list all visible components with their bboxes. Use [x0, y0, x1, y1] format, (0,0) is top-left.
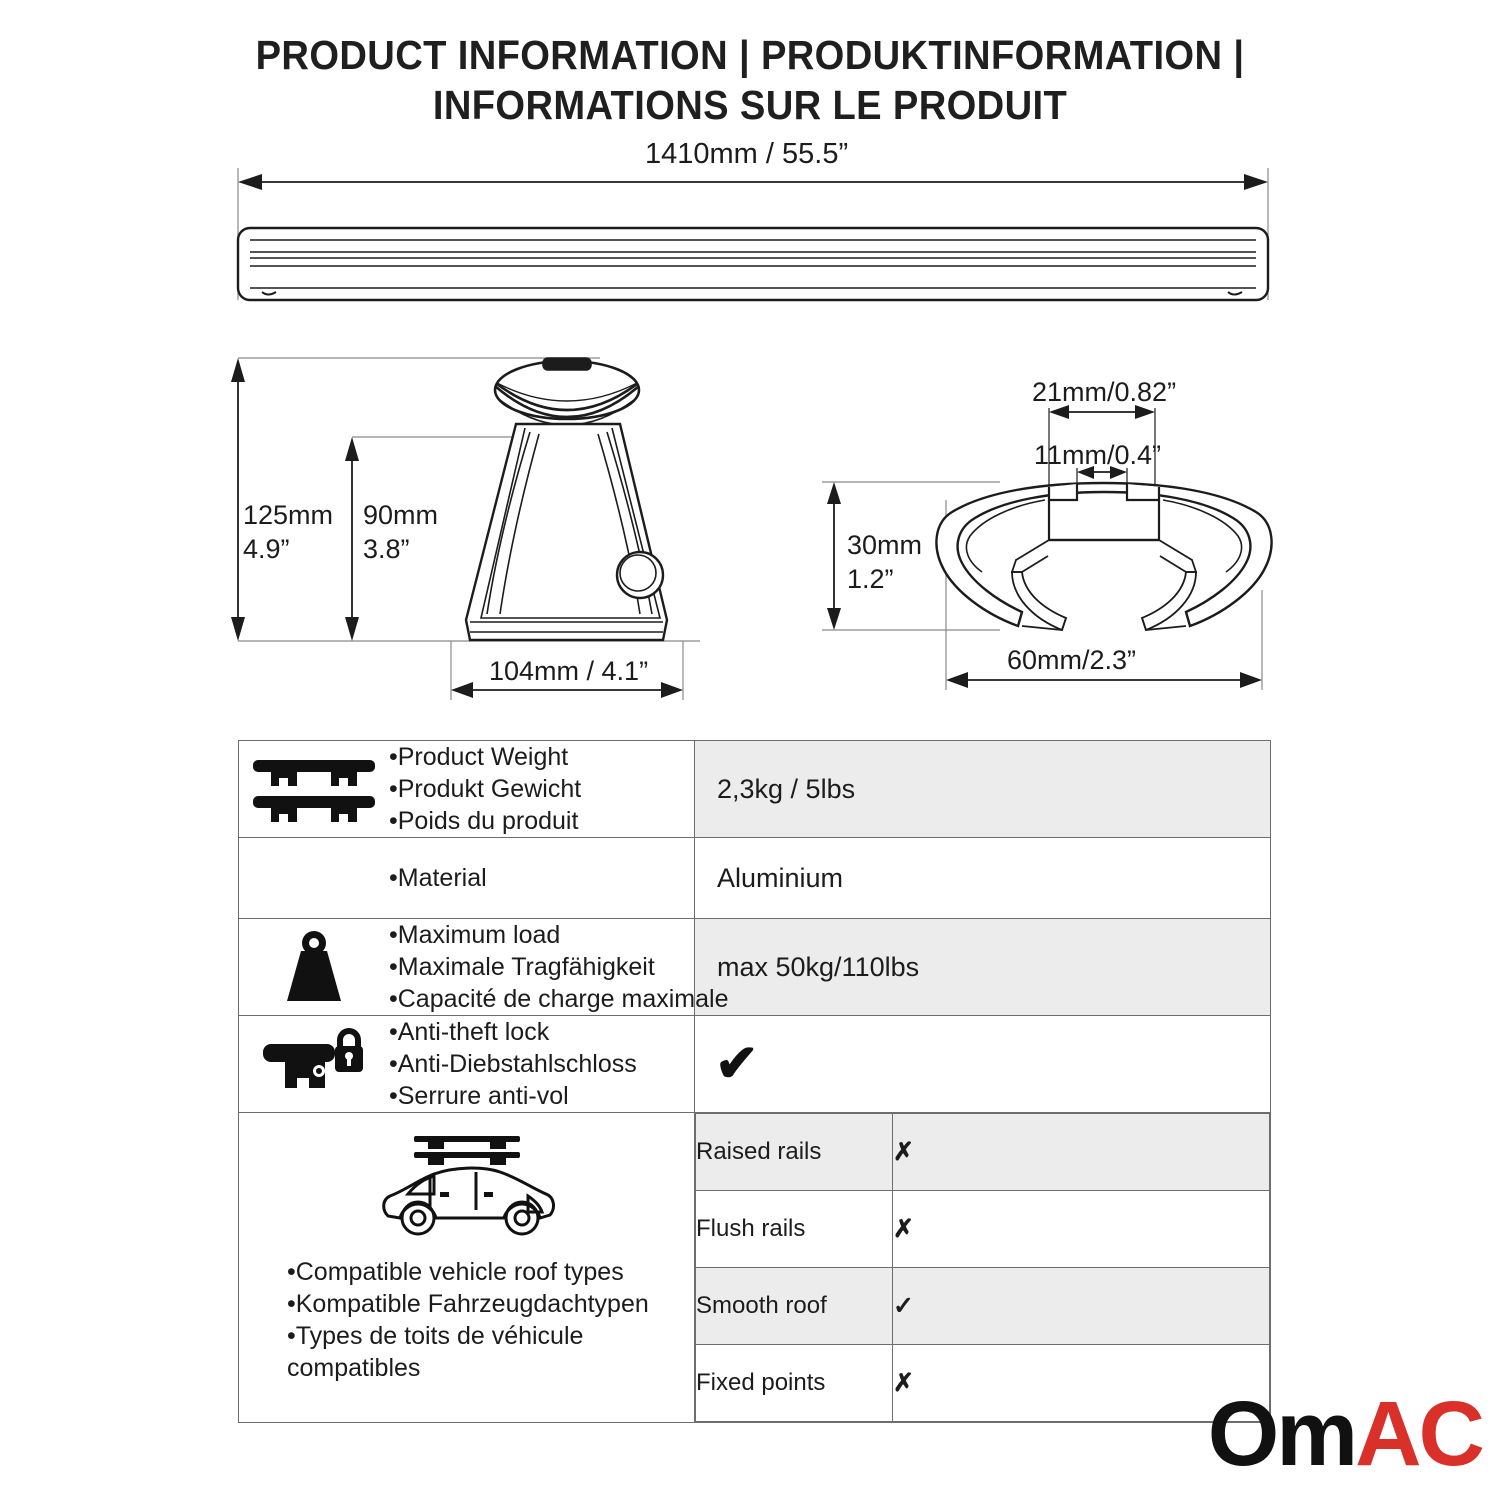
- logo-text-red: AC: [1355, 1383, 1482, 1485]
- dim-arrow-90mm: [345, 437, 359, 641]
- weight-label-en: •Product Weight: [389, 741, 581, 773]
- roof-types-label-fr: •Types de toits de véhicule: [287, 1320, 686, 1352]
- roof-type-name-raised: Raised rails: [696, 1114, 893, 1191]
- roof-type-row-smooth: Smooth roof ✓: [696, 1268, 1270, 1345]
- roof-type-row-raised: Raised rails ✗: [696, 1114, 1270, 1191]
- dim-profile-height-in: 1.2”: [847, 564, 894, 594]
- roof-type-row-fixed: Fixed points ✗: [696, 1345, 1270, 1422]
- weight-label-fr: •Poids du produit: [389, 805, 581, 837]
- omac-logo: OmAC: [1208, 1388, 1482, 1480]
- roof-types-subtable: Raised rails ✗ Flush rails ✗ Smooth roof…: [695, 1113, 1270, 1422]
- roof-type-mark-flush: ✗: [893, 1191, 1270, 1268]
- crossbars-icon: [239, 752, 389, 826]
- dim-profile-slot-inner: 11mm/0.4”: [1034, 440, 1161, 471]
- table-row-material: •Material Aluminium: [239, 838, 1271, 919]
- table-row-anti-theft: •Anti-theft lock •Anti-Diebstahlschloss …: [239, 1016, 1271, 1113]
- logo-text-black: Om: [1208, 1383, 1355, 1485]
- anti-theft-labels: •Anti-theft lock •Anti-Diebstahlschloss …: [389, 1016, 637, 1112]
- max-load-value-cell: max 50kg/110lbs: [695, 919, 1271, 1016]
- dim-tower-height-inner: 90mm 3.8”: [363, 498, 438, 566]
- roof-type-mark-raised: ✗: [893, 1114, 1270, 1191]
- roof-types-label-fr-cont: compatibles: [287, 1352, 686, 1384]
- table-row-weight: •Product Weight •Produkt Gewicht •Poids …: [239, 741, 1271, 838]
- weight-labels: •Product Weight •Produkt Gewicht •Poids …: [389, 741, 581, 837]
- product-spec-table: •Product Weight •Produkt Gewicht •Poids …: [238, 740, 1271, 1423]
- dim-arrow-11mm: [1077, 466, 1127, 500]
- dim-profile-slot-outer: 21mm/0.82”: [1032, 377, 1176, 408]
- roof-type-name-flush: Flush rails: [696, 1191, 893, 1268]
- dim-tower-height-total-mm: 125mm: [243, 500, 333, 530]
- max-load-labels: •Maximum load •Maximale Tragfähigkeit •C…: [389, 919, 728, 1015]
- dim-profile-height: 30mm 1.2”: [847, 528, 922, 596]
- roof-types-label-cell: •Compatible vehicle roof types •Kompatib…: [239, 1113, 695, 1423]
- material-value-cell: Aluminium: [695, 838, 1271, 919]
- table-row-max-load: •Maximum load •Maximale Tragfähigkeit •C…: [239, 919, 1271, 1016]
- anti-theft-label-de: •Anti-Diebstahlschloss: [389, 1048, 637, 1080]
- anti-theft-label-fr: •Serrure anti-vol: [389, 1080, 637, 1112]
- car-with-rack-icon: [239, 1118, 694, 1248]
- max-load-label-de: •Maximale Tragfähigkeit: [389, 951, 728, 983]
- anti-theft-checkmark: ✔: [695, 1036, 1270, 1092]
- roof-types-value-cell: Raised rails ✗ Flush rails ✗ Smooth roof…: [695, 1113, 1271, 1423]
- dim-tower-height-inner-in: 3.8”: [363, 534, 410, 564]
- weight-value: 2,3kg / 5lbs: [695, 774, 1270, 805]
- page-title: PRODUCT INFORMATION | PRODUKTINFORMATION…: [0, 30, 1500, 130]
- max-load-value: max 50kg/110lbs: [695, 952, 1270, 983]
- bar-length-dimension-line: [238, 168, 1268, 300]
- roof-type-name-fixed: Fixed points: [696, 1345, 893, 1422]
- weight-label-cell: •Product Weight •Produkt Gewicht •Poids …: [239, 741, 695, 838]
- material-label-en: •Material: [389, 862, 487, 894]
- dim-profile-width: 60mm/2.3”: [1007, 645, 1136, 676]
- roof-types-label-de: •Kompatible Fahrzeugdachtypen: [287, 1288, 686, 1320]
- title-line-2: INFORMATIONS SUR LE PRODUIT: [53, 80, 1448, 130]
- roof-types-label-en: •Compatible vehicle roof types: [287, 1256, 686, 1288]
- dim-profile-height-mm: 30mm: [847, 530, 922, 560]
- material-value: Aluminium: [695, 863, 1270, 894]
- roof-type-name-smooth: Smooth roof: [696, 1268, 893, 1345]
- weight-value-cell: 2,3kg / 5lbs: [695, 741, 1271, 838]
- lock-icon: [239, 1026, 389, 1102]
- weight-label-de: •Produkt Gewicht: [389, 773, 581, 805]
- anti-theft-label-en: •Anti-theft lock: [389, 1016, 637, 1048]
- roof-type-row-flush: Flush rails ✗: [696, 1191, 1270, 1268]
- max-load-label-fr: •Capacité de charge maximale: [389, 983, 728, 1015]
- roof-types-labels: •Compatible vehicle roof types •Kompatib…: [239, 1248, 694, 1384]
- dim-tower-width: 104mm / 4.1”: [489, 656, 648, 687]
- weight-icon: [239, 929, 389, 1005]
- dim-tower-height-total: 125mm 4.9”: [243, 498, 333, 566]
- anti-theft-value-cell: ✔: [695, 1016, 1271, 1113]
- dim-tower-height-inner-mm: 90mm: [363, 500, 438, 530]
- anti-theft-label-cell: •Anti-theft lock •Anti-Diebstahlschloss …: [239, 1016, 695, 1113]
- max-load-label-en: •Maximum load: [389, 919, 728, 951]
- table-row-roof-types: •Compatible vehicle roof types •Kompatib…: [239, 1113, 1271, 1423]
- roof-type-mark-smooth: ✓: [893, 1268, 1270, 1345]
- title-line-1: PRODUCT INFORMATION | PRODUKTINFORMATION…: [53, 30, 1448, 80]
- dim-tower-height-total-in: 4.9”: [243, 534, 290, 564]
- dim-bar-length: 1410mm / 55.5”: [645, 138, 848, 171]
- material-labels: •Material: [389, 862, 487, 894]
- material-label-cell: •Material: [239, 838, 695, 919]
- max-load-label-cell: •Maximum load •Maximale Tragfähigkeit •C…: [239, 919, 695, 1016]
- crossbar-top-view: [238, 228, 1268, 300]
